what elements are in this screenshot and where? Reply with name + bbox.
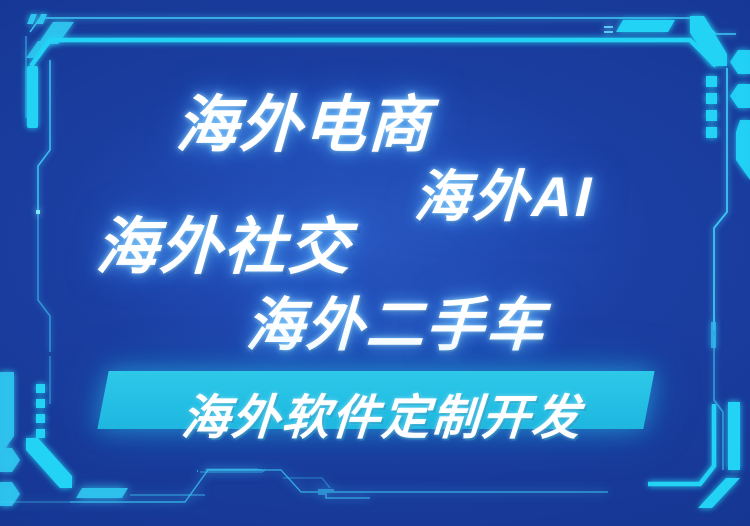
headline-ai: 海外AI xyxy=(413,152,596,233)
poster-canvas: 海外电商 海外AI 海外社交 海外二手车 海外软件定制开发 xyxy=(0,0,750,526)
headline-used-cars: 海外二手车 xyxy=(245,278,548,362)
highlight-banner-label: 海外软件定制开发 xyxy=(130,378,635,448)
headline-social: 海外社交 xyxy=(94,196,353,286)
headline-ecommerce: 海外电商 xyxy=(174,74,433,164)
